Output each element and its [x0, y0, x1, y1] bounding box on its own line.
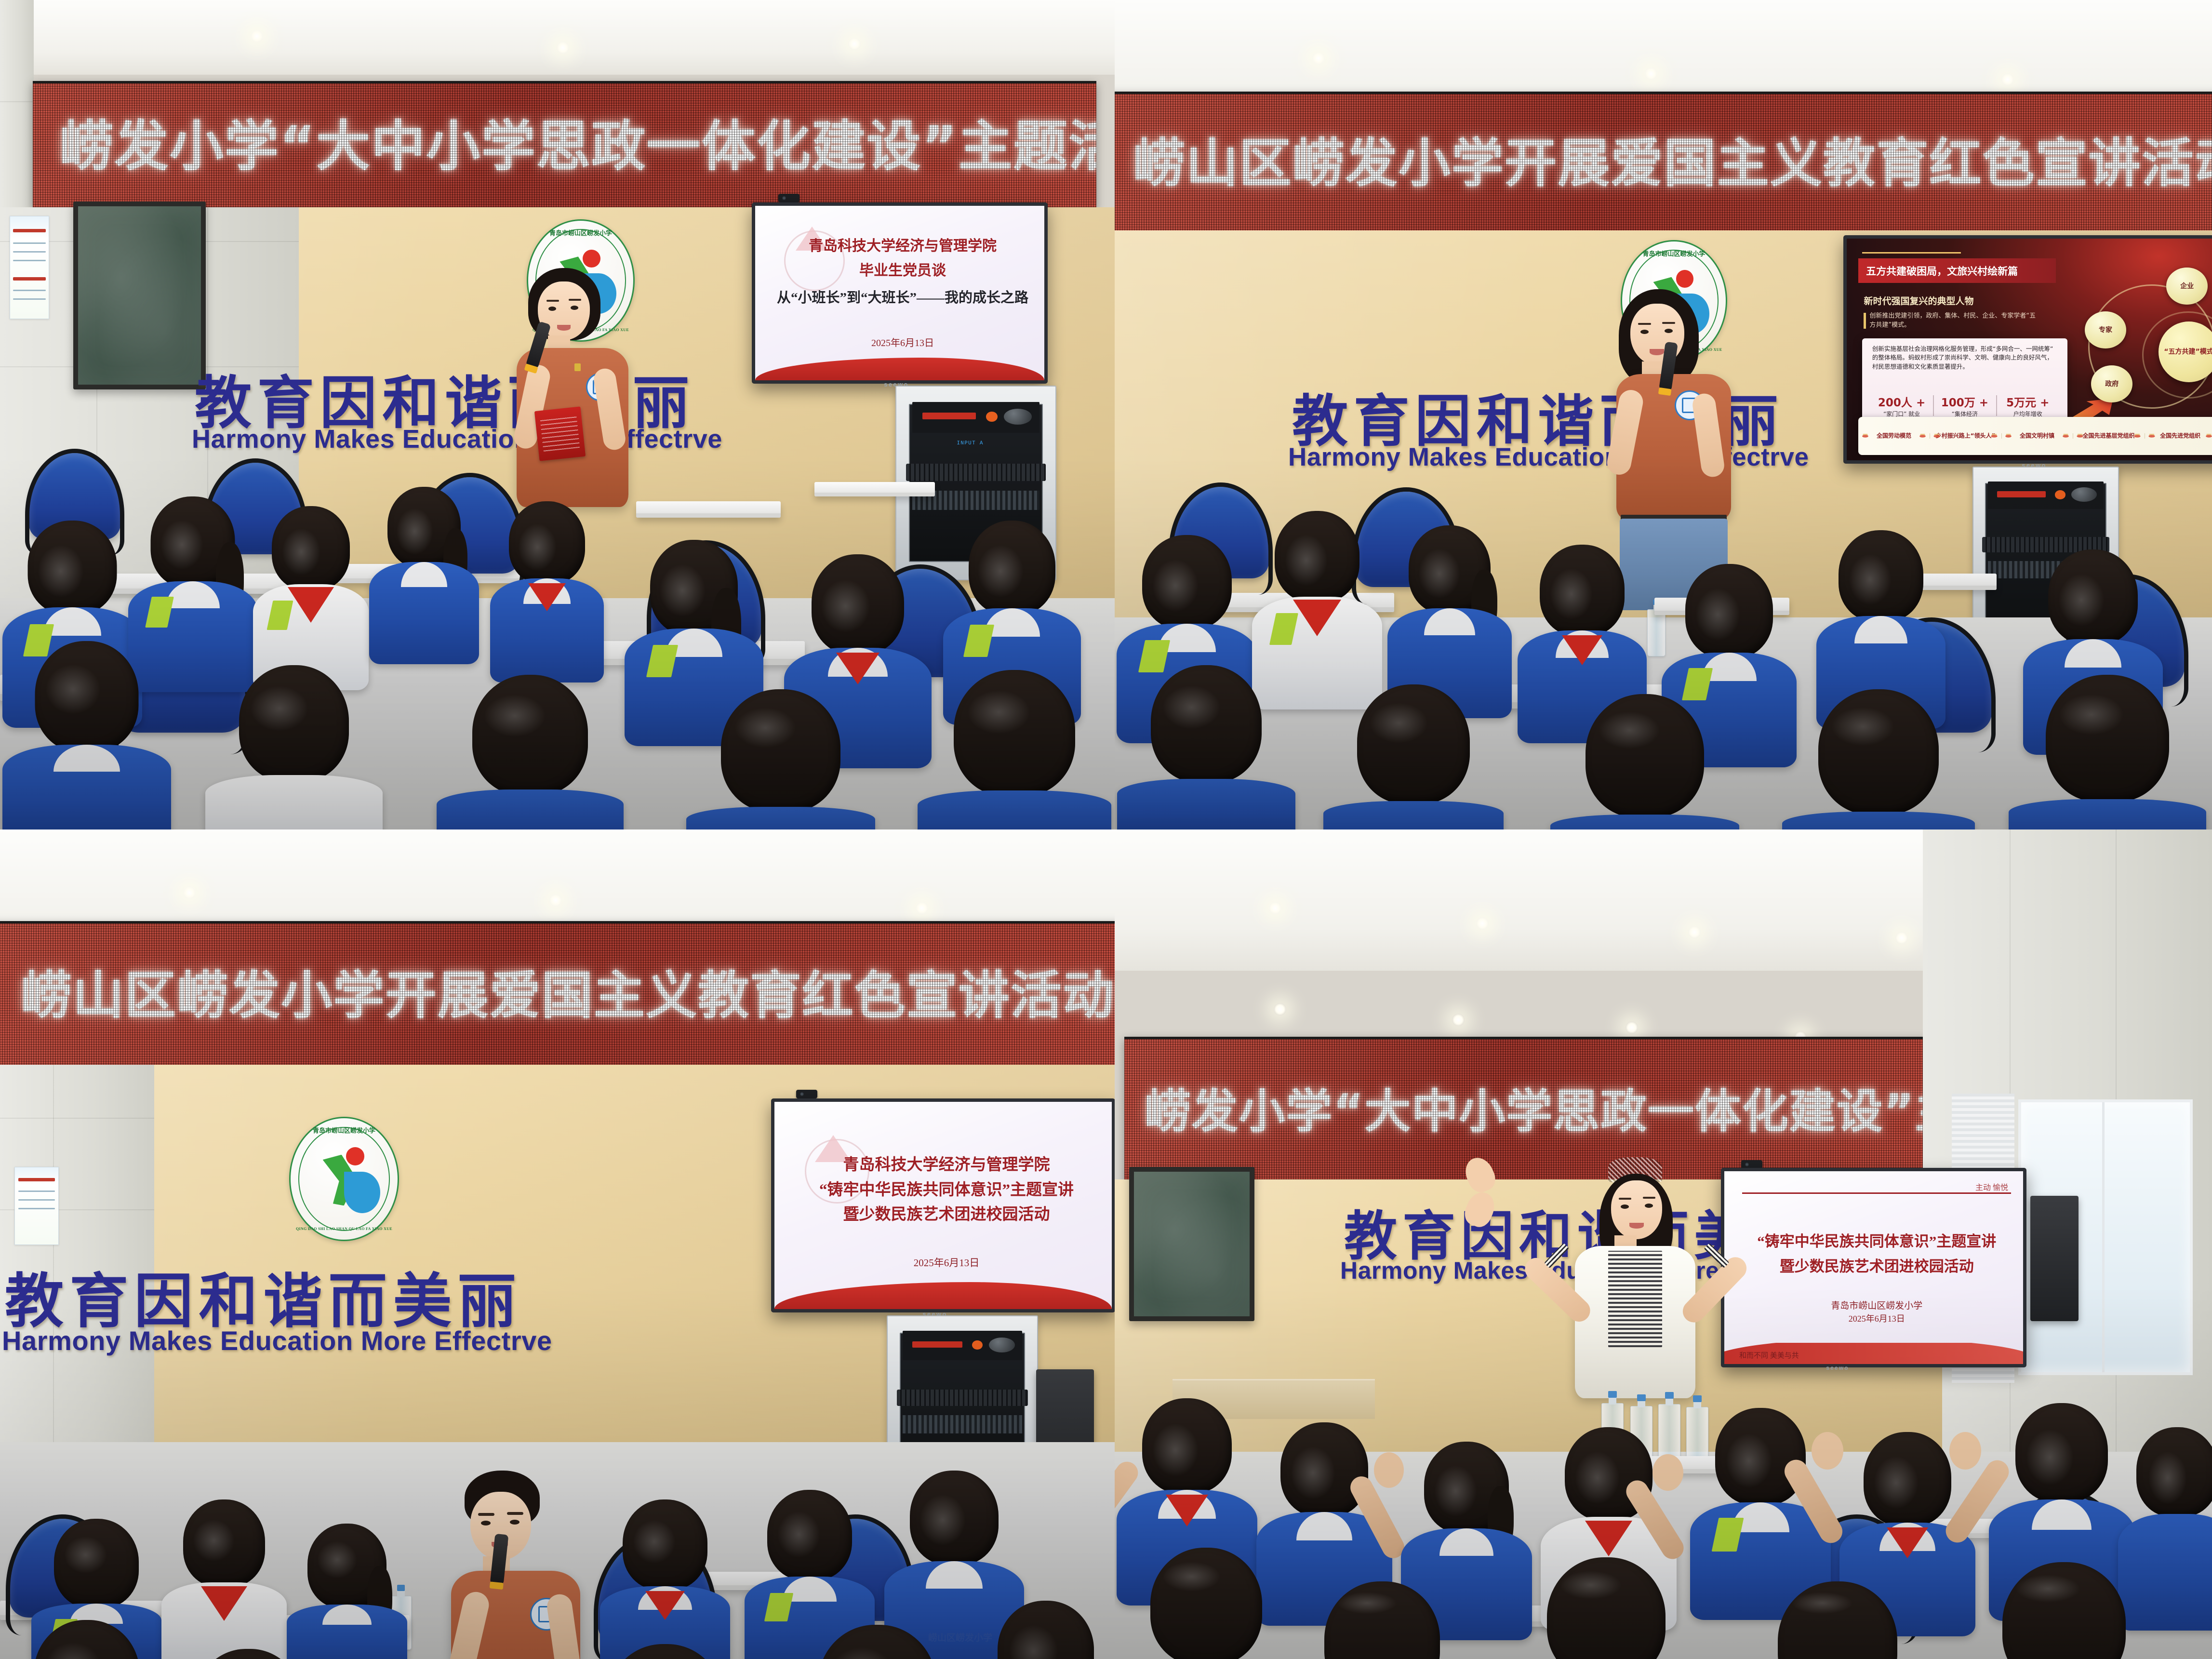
presentation-board[interactable]: 青岛科技大学经济与管理学院 毕业生党员谈 从“小班长”到“大班长”——我的成长之…: [752, 202, 1048, 384]
student: [1115, 1548, 1298, 1659]
slide-line3: 暨少数民族艺术团进校园活动: [788, 1201, 1105, 1224]
slide-subtitle: 新时代强国复兴的典型人物: [1864, 294, 1974, 307]
wall-poster: [14, 1167, 59, 1245]
award-badge: 全国文明村镇: [2001, 432, 2073, 440]
downlight: [1452, 1014, 1465, 1026]
downlight: [1476, 917, 1489, 930]
downlight: [1688, 926, 1701, 938]
slide-body-text: 创新实施基层社会治理网格化服务管理，形成“多网合一、一网统筹”的整体格局。蚂蚁村…: [1872, 345, 2057, 372]
student: [684, 689, 877, 829]
downlight: [1274, 1003, 1286, 1016]
student: [569, 1644, 761, 1659]
downlight: [1645, 67, 1657, 80]
wall-poster: [10, 216, 49, 319]
student: [202, 665, 386, 829]
emblem-cn-text: 青岛市崂山区崂发小学: [1622, 249, 1726, 258]
emblem-cn-text: 青岛市崂山区崂发小学: [291, 1125, 398, 1135]
led-banner-text: 崂发小学“大中小学思政一体化建设”主题活动: [59, 120, 1075, 174]
downlight: [848, 38, 861, 50]
stat-item: 100万 + “集体经济: [1933, 393, 1996, 418]
stat-item: 5万元 + 户均年增收: [1996, 393, 2059, 418]
student: [1963, 1562, 2165, 1659]
award-badge: 全国先进党组织: [2145, 432, 2212, 440]
slide-line2: 毕业生党员谈: [767, 258, 1039, 280]
webcam-icon: [778, 194, 800, 202]
led-banner: 崂发小学“大中小学思政一体化建设”主题活动: [33, 81, 1096, 210]
webcam-icon: [796, 1090, 817, 1098]
slide-line2: “铸牢中华民族共同体意识”主题宣讲: [788, 1177, 1105, 1200]
award-badge: 全国劳动模范: [1858, 432, 1930, 440]
slide-stat-card: 创新实施基层社会治理网格化服务管理，形成“多网合一、一网统筹”的整体格局。蚂蚁村…: [1862, 338, 2068, 425]
award-badge: 乡村振兴路上“领头人”: [1930, 432, 2001, 440]
chalkboard: [1129, 1167, 1254, 1321]
speaker-box: [2030, 1196, 2079, 1321]
student: [284, 1524, 410, 1659]
photo-top-left: 崂发小学“大中小学思政一体化建设”主题活动 青岛市崂山区崂发小学 QING DA…: [0, 0, 1115, 829]
downlight: [251, 30, 263, 42]
school-emblem: 青岛市崂山区崂发小学 QING DAO SHI LAO SHAN QU LAO …: [289, 1117, 399, 1241]
slide-line1: 青岛科技大学经济与管理学院: [767, 234, 1039, 255]
student-desk: [814, 482, 935, 496]
led-banner-text: 崂发小学“大中小学思政一体化建设”主题活动: [1145, 1088, 1912, 1135]
presentation-board[interactable]: 青岛科技大学经济与管理学院 “铸牢中华民族共同体意识”主题宣讲 暨少数民族艺术团…: [771, 1098, 1115, 1312]
emblem-cn-text: 青岛市崂山区崂发小学: [528, 228, 633, 237]
student: [1548, 694, 1741, 829]
student: [1510, 1557, 1703, 1659]
student: [1780, 689, 1977, 829]
photo-bottom-right: 崂发小学“大中小学思政一体化建设”主题活动 教育因和谐而美丽 Harmony M…: [1115, 829, 2212, 1659]
stat-item: 200人 + “家门口” 就业: [1870, 393, 1933, 418]
led-banner-text: 崂山区崂发小学开展爱国主义教育红色宣讲活动: [21, 970, 1100, 1021]
ceiling: [0, 0, 1115, 75]
student: [598, 1499, 733, 1659]
chalkboard: [73, 201, 206, 389]
student: [159, 1499, 289, 1659]
student: [0, 641, 173, 829]
party-pin-icon: [574, 363, 581, 371]
downlight: [1312, 52, 1325, 65]
slide-line3: 从“小班长”到“大班长”——我的成长之路: [767, 286, 1039, 307]
downlight: [916, 902, 928, 914]
student: [1115, 665, 1298, 829]
downlight: [1895, 932, 1908, 944]
student: [1288, 1581, 1476, 1659]
slide-content: 五方共建破困局，文旅兴村绘新篇 新时代强国复兴的典型人物 创新推出党建引领，政府…: [1847, 239, 2212, 460]
wall-slogan-en: Harmony Makes Education More Effectrve: [2, 1325, 552, 1356]
slide-accent-line: [1862, 252, 1961, 254]
photo-top-right: 崂山区崂发小学开展爱国主义教育红色宣讲活动 青岛市崂山区崂发小学 QING DA…: [1115, 0, 2212, 829]
photo-collage: 崂发小学“大中小学思政一体化建设”主题活动 青岛市崂山区崂发小学 QING DA…: [0, 0, 2212, 1659]
downlight: [1626, 1021, 1638, 1034]
slide-stats: 200人 + “家门口” 就业 100万 + “集体经济 5万元 + 户均年增收: [1870, 393, 2059, 418]
student: [916, 670, 1113, 829]
student: [434, 675, 626, 829]
photo-bottom-left: 崂山区崂发小学开展爱国主义教育红色宣讲活动 青岛市崂山区崂发小学 QING DA…: [0, 829, 1115, 1659]
embroidery-pattern: [1608, 1251, 1662, 1347]
student: [969, 1601, 1115, 1659]
student: [159, 1649, 337, 1659]
slide-title: 青岛科技大学经济与管理学院 “铸牢中华民族共同体意识”主题宣讲 暨少数民族艺术团…: [774, 1102, 1112, 1309]
display-brand-label: seewo: [1826, 1365, 1849, 1371]
slide-line1: 青岛科技大学经济与管理学院: [788, 1151, 1105, 1175]
interactive-flat-panel[interactable]: 五方共建破困局，文旅兴村绘新篇 新时代强国复兴的典型人物 创新推出党建引领，政府…: [1843, 235, 2212, 464]
student-desk: [636, 501, 781, 518]
slide-date: 2025年6月13日: [767, 335, 1039, 349]
presenter-male: [414, 1471, 617, 1659]
led-banner: 崂山区崂发小学开展爱国主义教育红色宣讲活动: [1115, 92, 2212, 234]
slide-date: 2025年6月13日: [788, 1255, 1105, 1270]
slide-diagram: 企业 专家 政府 “五方共建”模式: [2075, 261, 2212, 429]
slide-corner-text: 主动 愉悦: [1975, 1181, 2008, 1192]
student: [1741, 1581, 1934, 1659]
downlight: [549, 894, 562, 907]
downlight: [2001, 73, 2014, 86]
emblem-pinyin-text: QING DAO SHI LAO SHAN QU LAO FA XIAO XUE: [291, 1227, 398, 1231]
slide-awards: 全国劳动模范 乡村振兴路上“领头人” 全国文明村镇 全国先进基层党组织 全国先进…: [1858, 417, 2212, 455]
student: [0, 1620, 173, 1659]
student: [251, 506, 371, 689]
downlight: [557, 41, 569, 54]
led-banner: 崂山区崂发小学开展爱国主义教育红色宣讲活动: [0, 921, 1115, 1068]
slide-note-text: 创新推出党建引领，政府、集体、村民、企业、专家学者“五方共建”模式。: [1869, 312, 2036, 329]
slide-title: 五方共建破困局，文旅兴村绘新篇: [1858, 258, 2056, 283]
student: [1322, 684, 1505, 829]
downlight: [183, 886, 196, 899]
student: [2006, 675, 2209, 829]
slide-title-bar: 五方共建破困局，文旅兴村绘新篇: [1858, 258, 2056, 283]
led-banner-text: 崂山区崂发小学开展爱国主义教育红色宣讲活动: [1133, 138, 2199, 190]
award-badge: 全国先进基层党组织: [2073, 432, 2145, 440]
downlight: [1269, 902, 1281, 914]
slide-note: 创新推出党建引领，政府、集体、村民、企业、专家学者“五方共建”模式。: [1869, 312, 2041, 330]
red-booklet: [534, 406, 586, 461]
student: [781, 1625, 973, 1659]
student: [366, 487, 482, 665]
student: [487, 501, 607, 684]
slide-title: 青岛科技大学经济与管理学院 毕业生党员谈 从“小班长”到“大班长”——我的成长之…: [755, 206, 1044, 380]
